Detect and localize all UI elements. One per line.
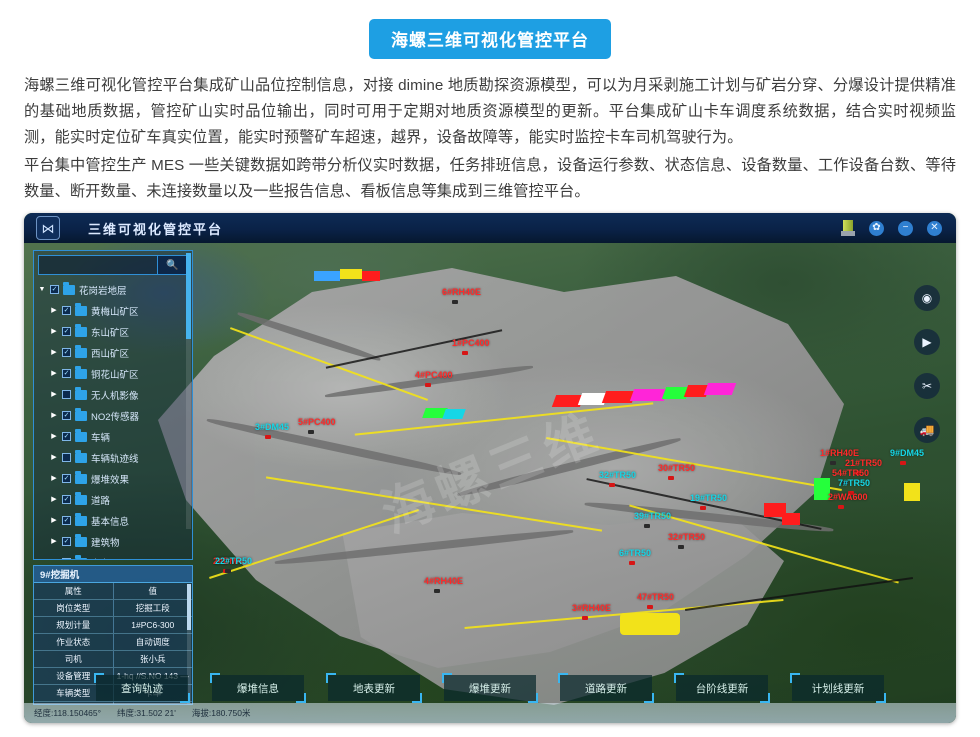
- action-button[interactable]: 地表更新: [328, 675, 420, 701]
- tree-item-label: 东山矿区: [91, 325, 129, 339]
- map-equipment-marker[interactable]: [838, 505, 844, 509]
- table-cell-value: 挖掘工段: [114, 600, 193, 616]
- tree-item[interactable]: ▶✓卡车: [38, 552, 192, 559]
- map-equipment-label: 4#PC400: [415, 370, 453, 380]
- chevron-right-icon[interactable]: ▶: [50, 433, 58, 440]
- tree-item[interactable]: ▶✓建筑物: [38, 531, 192, 552]
- ore-block: [782, 513, 800, 525]
- tree-item-checkbox[interactable]: ✓: [62, 306, 71, 315]
- status-bar: 经度:118.150465°纬度:31.502 21'海拔:180.750米: [24, 703, 956, 723]
- map-equipment-marker[interactable]: [434, 589, 440, 593]
- tree-item[interactable]: ▶✓黄梅山矿区: [38, 300, 192, 321]
- status-bar-item: 经度:118.150465°: [34, 707, 101, 719]
- map-equipment-marker[interactable]: [900, 461, 906, 465]
- folder-icon: [63, 285, 75, 295]
- ore-block: [362, 271, 380, 281]
- info-panel-title: 9#挖掘机: [34, 566, 192, 583]
- tree-item[interactable]: ▶✓NO2传感器: [38, 405, 192, 426]
- tree-item-label: 铜花山矿区: [91, 367, 139, 381]
- camera-tool-icon[interactable]: ◉: [914, 285, 940, 311]
- ore-block: [904, 483, 920, 501]
- table-cell-value: 1#PC6-300: [114, 617, 193, 633]
- map-equipment-label: 1#RH40E: [820, 448, 859, 458]
- pin-icon[interactable]: [841, 220, 855, 236]
- table-cell-value: 张小兵: [114, 651, 193, 667]
- folder-icon: [75, 537, 87, 547]
- search-icon[interactable]: 🔍: [157, 256, 187, 274]
- table-row: 作业状态自动调度: [34, 634, 192, 651]
- folder-icon: [75, 348, 87, 358]
- tree-item-checkbox[interactable]: ✓: [62, 537, 71, 546]
- map-equipment-label: 3#RH40E: [572, 603, 611, 613]
- tree-item-checkbox[interactable]: ✓: [62, 432, 71, 441]
- app-window-title: 三维可视化管控平台: [88, 219, 223, 238]
- vehicle-tool-icon[interactable]: 🚚: [914, 417, 940, 443]
- tree-item-checkbox[interactable]: ✓: [62, 369, 71, 378]
- table-row: 属性值: [34, 583, 192, 600]
- map-equipment-marker[interactable]: [452, 300, 458, 304]
- map-equipment-label: 32#TR50: [668, 532, 705, 542]
- chevron-right-icon[interactable]: ▶: [50, 307, 58, 314]
- chevron-down-icon[interactable]: ▼: [38, 286, 46, 293]
- tree-item-label: 建筑物: [91, 535, 120, 549]
- map-equipment-label: 6#TR50: [619, 548, 651, 558]
- tree-scrollbar[interactable]: [186, 253, 191, 529]
- measure-tool-icon[interactable]: ✂: [914, 373, 940, 399]
- ore-block: [340, 269, 362, 279]
- status-bar-item: 纬度:31.502 21': [117, 707, 176, 719]
- map-equipment-marker[interactable]: [582, 616, 588, 620]
- titlebar-controls: ✿ − ✕: [841, 220, 956, 236]
- minimize-icon[interactable]: −: [898, 221, 913, 236]
- ore-block: [442, 409, 466, 419]
- table-row: 岗位类型挖掘工段: [34, 600, 192, 617]
- table-cell-value: 值: [114, 583, 193, 599]
- tree-item-checkbox[interactable]: ✓: [62, 516, 71, 525]
- tree-item-label: 黄梅山矿区: [91, 304, 139, 318]
- map-equipment-marker[interactable]: [668, 476, 674, 480]
- ore-block: [704, 383, 736, 395]
- table-row: 司机张小兵: [34, 651, 192, 668]
- map-equipment-marker[interactable]: [462, 351, 468, 355]
- tree-item-label: 基本信息: [91, 514, 129, 528]
- map-equipment-label: 54#TR50: [832, 468, 869, 478]
- page-header: 海螺三维可视化管控平台: [0, 0, 980, 59]
- map-equipment-marker[interactable]: [308, 430, 314, 434]
- ore-block: [620, 613, 680, 635]
- app-window: 海螺三维 ⋈ 三维可视化管控平台 ✿ − ✕ 🔍 ▼✓花岗岩地层▶✓黄梅山矿区▶…: [24, 213, 956, 723]
- tree-item-label: 无人机影像: [91, 388, 139, 402]
- tree-item[interactable]: ▶✓铜花山矿区: [38, 363, 192, 384]
- map-equipment-label: 6#RH40E: [442, 287, 481, 297]
- tree-item-checkbox[interactable]: ✓: [62, 348, 71, 357]
- map-equipment-marker[interactable]: [265, 435, 271, 439]
- tree-item-label: 花岗岩地层: [79, 283, 127, 297]
- tree-item[interactable]: ▶无人机影像: [38, 384, 192, 405]
- chevron-right-icon[interactable]: ▶: [50, 538, 58, 545]
- tree-item-checkbox[interactable]: ✓: [62, 495, 71, 504]
- folder-icon: [75, 474, 87, 484]
- app-logo-icon: ⋈: [36, 216, 60, 240]
- tree-item-label: 道路: [91, 493, 110, 507]
- action-button[interactable]: 台阶线更新: [676, 675, 768, 701]
- playback-tool-icon[interactable]: ▶: [914, 329, 940, 355]
- map-equipment-label: 5#PC400: [298, 417, 336, 427]
- ore-block: [314, 271, 340, 281]
- table-cell-key: 规划计量: [34, 617, 114, 633]
- map-equipment-label: 3#DM45: [255, 422, 289, 432]
- chevron-right-icon[interactable]: ▶: [50, 454, 58, 461]
- tree-item-label: 车辆: [91, 430, 110, 444]
- tree-item-label: 车辆轨迹线: [91, 451, 139, 465]
- tree-item-label: NO2传感器: [91, 409, 139, 423]
- tree-item-checkbox[interactable]: ✓: [62, 411, 71, 420]
- chevron-right-icon[interactable]: ▶: [50, 412, 58, 419]
- tree-item[interactable]: ▶车辆轨迹线: [38, 447, 192, 468]
- chevron-right-icon[interactable]: ▶: [50, 328, 58, 335]
- tree-item-label: 西山矿区: [91, 346, 129, 360]
- tree-item[interactable]: ▼✓花岗岩地层: [38, 279, 192, 300]
- description-paragraph-1: 海螺三维可视化管控平台集成矿山品位控制信息，对接 dimine 地质勘探资源模型…: [24, 73, 956, 151]
- tree-item-checkbox[interactable]: [62, 390, 71, 399]
- tree-item-checkbox[interactable]: ✓: [62, 558, 71, 559]
- map-equipment-marker[interactable]: [830, 461, 836, 465]
- description-block: 海螺三维可视化管控平台集成矿山品位控制信息，对接 dimine 地质勘探资源模型…: [0, 73, 980, 205]
- search-input[interactable]: [39, 256, 157, 274]
- map-equipment-marker[interactable]: [700, 506, 706, 510]
- chevron-right-icon[interactable]: ▶: [50, 391, 58, 398]
- tree-item[interactable]: ▶✓基本信息: [38, 510, 192, 531]
- action-button[interactable]: 查询轨迹: [96, 675, 188, 701]
- action-button[interactable]: 爆堆信息: [212, 675, 304, 701]
- folder-icon: [75, 495, 87, 505]
- map-equipment-label: 47#TR50: [637, 592, 674, 602]
- map-equipment-label: 32#TR50: [599, 470, 636, 480]
- folder-icon: [75, 516, 87, 526]
- chevron-right-icon[interactable]: ▶: [50, 475, 58, 482]
- map-equipment-label: 22#TR50: [215, 556, 252, 566]
- tree-item-checkbox[interactable]: ✓: [62, 474, 71, 483]
- action-button[interactable]: 道路更新: [560, 675, 652, 701]
- map-equipment-label: 7#TR50: [838, 478, 870, 488]
- chevron-right-icon[interactable]: ▶: [50, 496, 58, 503]
- map-equipment-label: 9#DM45: [890, 448, 924, 458]
- folder-icon: [75, 390, 87, 400]
- folder-icon: [75, 558, 87, 560]
- tree-item-checkbox[interactable]: [62, 453, 71, 462]
- map-equipment-marker[interactable]: [629, 561, 635, 565]
- map-equipment-marker[interactable]: [678, 545, 684, 549]
- folder-icon: [75, 411, 87, 421]
- layer-search-bar: 🔍: [38, 255, 188, 275]
- tree-item-label: 爆堆效果: [91, 472, 129, 486]
- map-equipment-marker[interactable]: [225, 569, 231, 573]
- map-equipment-marker[interactable]: [609, 483, 615, 487]
- tree-item[interactable]: ▶✓道路: [38, 489, 192, 510]
- table-cell-key: 岗位类型: [34, 600, 114, 616]
- tree-item[interactable]: ▶✓车辆: [38, 426, 192, 447]
- page-title-badge: 海螺三维可视化管控平台: [369, 19, 611, 59]
- folder-icon: [75, 453, 87, 463]
- window-titlebar: ⋈ 三维可视化管控平台 ✿ − ✕: [24, 213, 956, 243]
- close-icon[interactable]: ✕: [927, 221, 942, 236]
- tree-item[interactable]: ▶✓西山矿区: [38, 342, 192, 363]
- folder-icon: [75, 369, 87, 379]
- map-equipment-marker[interactable]: [644, 524, 650, 528]
- tree-item-checkbox[interactable]: ✓: [50, 285, 59, 294]
- table-cell-key: 属性: [34, 583, 114, 599]
- map-equipment-marker[interactable]: [647, 605, 653, 609]
- map-equipment-label: 21#TR50: [845, 458, 882, 468]
- chevron-right-icon[interactable]: ▶: [50, 370, 58, 377]
- layer-tree-panel: 🔍 ▼✓花岗岩地层▶✓黄梅山矿区▶✓东山矿区▶✓西山矿区▶✓铜花山矿区▶无人机影…: [33, 250, 193, 560]
- action-button-bar: 查询轨迹爆堆信息地表更新爆堆更新道路更新台阶线更新计划线更新: [24, 675, 956, 701]
- folder-icon: [75, 327, 87, 337]
- tree-item-label: 卡车: [91, 556, 110, 560]
- map-equipment-marker[interactable]: [425, 383, 431, 387]
- table-row: 规划计量1#PC6-300: [34, 617, 192, 634]
- status-bar-item: 海拔:180.750米: [192, 707, 251, 719]
- tree-item[interactable]: ▶✓东山矿区: [38, 321, 192, 342]
- layer-tree-list[interactable]: ▼✓花岗岩地层▶✓黄梅山矿区▶✓东山矿区▶✓西山矿区▶✓铜花山矿区▶无人机影像▶…: [34, 277, 192, 559]
- folder-icon: [75, 432, 87, 442]
- table-cell-value: 自动调度: [114, 634, 193, 650]
- map-equipment-label: 1#PC400: [452, 338, 490, 348]
- chevron-right-icon[interactable]: ▶: [50, 349, 58, 356]
- table-cell-key: 司机: [34, 651, 114, 667]
- map-equipment-label: 39#TR50: [634, 511, 671, 521]
- map-tool-strip: ◉▶✂🚚: [914, 285, 940, 443]
- action-button[interactable]: 爆堆更新: [444, 675, 536, 701]
- map-equipment-label: 4#RH40E: [424, 576, 463, 586]
- chevron-right-icon[interactable]: ▶: [50, 517, 58, 524]
- table-cell-key: 作业状态: [34, 634, 114, 650]
- action-button[interactable]: 计划线更新: [792, 675, 884, 701]
- tree-item-checkbox[interactable]: ✓: [62, 327, 71, 336]
- description-paragraph-2: 平台集中管控生产 MES 一些关键数据如跨带分析仪实时数据，任务排班信息，设备运…: [24, 153, 956, 205]
- settings-icon[interactable]: ✿: [869, 221, 884, 236]
- tree-item[interactable]: ▶✓爆堆效果: [38, 468, 192, 489]
- map-equipment-label: 19#TR50: [690, 493, 727, 503]
- map-equipment-label: 30#TR50: [658, 463, 695, 473]
- folder-icon: [75, 306, 87, 316]
- map-equipment-label: 2#WA600: [828, 492, 868, 502]
